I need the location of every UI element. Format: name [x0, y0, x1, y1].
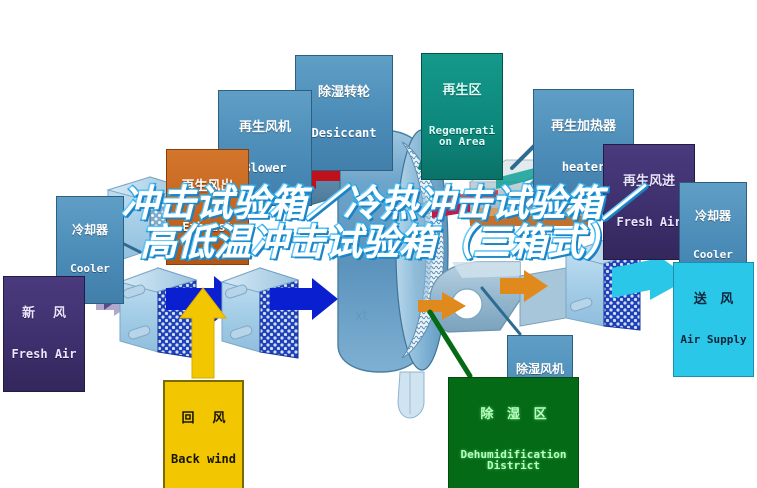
label-back-wind: 回 风 Back wind: [163, 380, 244, 488]
label-cn: 新 风: [8, 307, 80, 321]
cooling-coil-2: [222, 268, 298, 358]
label-cn: 除湿转轮: [300, 86, 388, 100]
label-cn: 冷却器: [684, 210, 742, 223]
label-cn: 再生区: [426, 84, 498, 98]
label-en: Dehumidification District: [453, 449, 574, 472]
diagram-canvas: xt: [0, 0, 757, 488]
label-cn: 送 风: [678, 293, 749, 307]
label-en: Cooler: [684, 249, 742, 261]
label-en: Desiccant: [300, 127, 388, 140]
label-en: Regenerati on Area: [426, 125, 498, 148]
label-cn: 回 风: [169, 412, 238, 426]
label-cn: 除湿风机: [512, 363, 568, 376]
label-en: Exhaust: [171, 221, 244, 234]
label-cn: 再生风进: [608, 175, 690, 189]
label-fresh-air-inlet: 新 风 Fresh Air: [3, 276, 85, 392]
label-air-supply: 送 风 Air Supply: [673, 262, 754, 377]
label-cn: 再生风机: [223, 121, 307, 135]
label-regeneration-area: 再生区 Regenerati on Area: [421, 53, 503, 180]
label-en: Fresh Air: [8, 348, 80, 361]
label-regeneration-exhaust: 再生风出 Exhaust: [166, 149, 249, 265]
svg-text:xt: xt: [355, 309, 368, 324]
condensate-duct: [398, 372, 424, 418]
label-en: Cooler: [61, 263, 119, 275]
label-dehumidification-district: 除 湿 区 Dehumidification District: [448, 377, 579, 488]
label-en: Fresh Air: [608, 216, 690, 229]
label-cn: 再生风出: [171, 180, 244, 194]
label-cn: 再生加热器: [538, 120, 629, 134]
label-cn: 除 湿 区: [453, 408, 574, 422]
label-en: Back wind: [169, 453, 238, 466]
label-en: Air Supply: [678, 334, 749, 346]
label-cn: 冷却器: [61, 224, 119, 237]
